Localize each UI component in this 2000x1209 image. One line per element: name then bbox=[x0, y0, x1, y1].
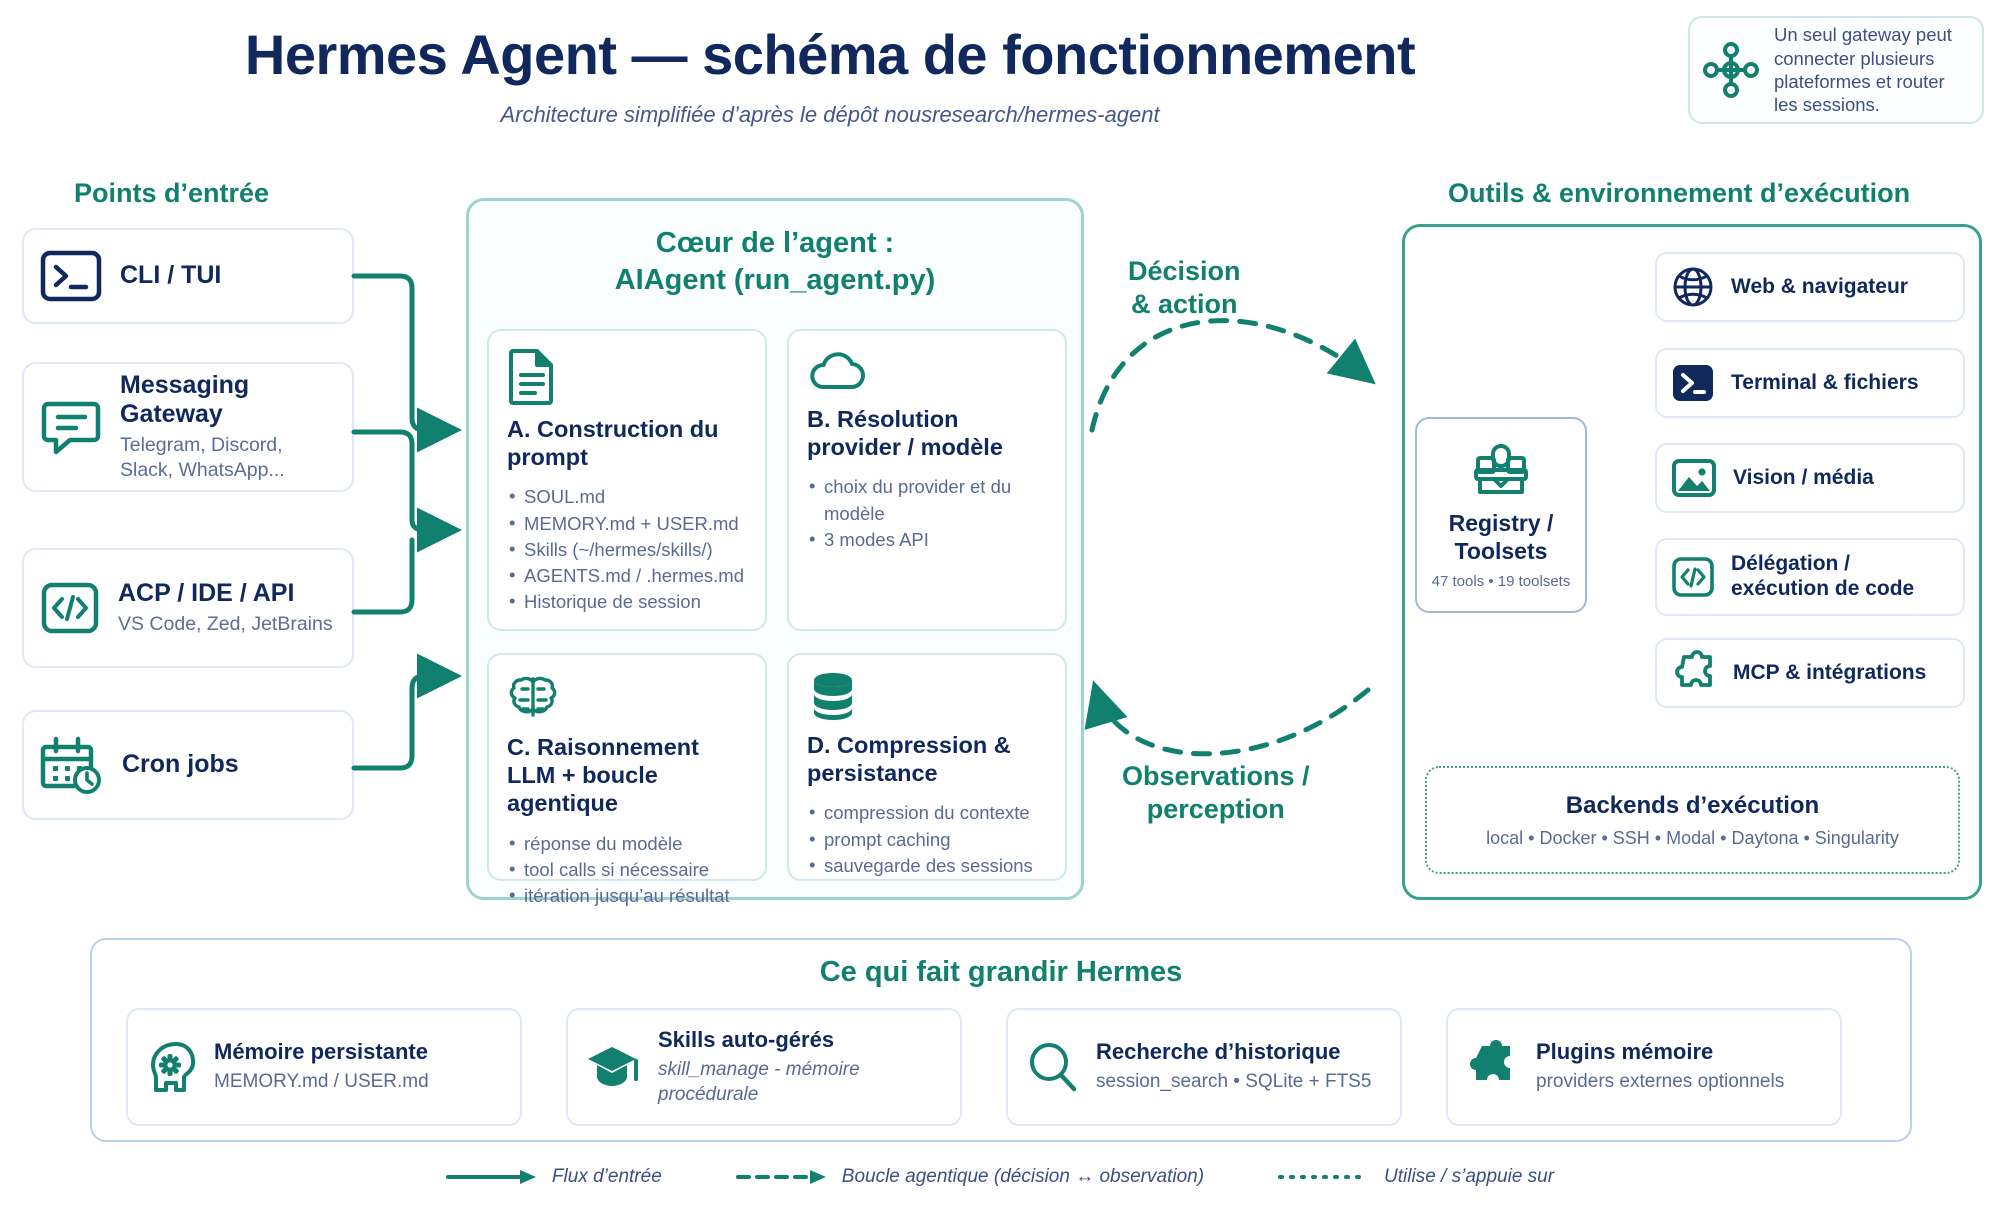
legend-label: Utilise / s’appuie sur bbox=[1384, 1166, 1554, 1188]
registry-title-line1: Registry / bbox=[1449, 510, 1554, 537]
core-card-heading: C. Raisonnement LLM + boucle agentique bbox=[507, 733, 749, 818]
core-card-list: compression du contexte prompt caching s… bbox=[807, 800, 1049, 879]
core-card-compression-persistance[interactable]: D. Compression & persistance compression… bbox=[787, 653, 1067, 881]
loop-label-decision: Décision & action bbox=[1128, 255, 1241, 321]
document-icon bbox=[507, 347, 749, 405]
page-subtitle: Architecture simplifiée d’après le dépôt… bbox=[0, 102, 1660, 128]
list-item: Historique de session bbox=[507, 589, 749, 615]
globe-icon bbox=[1671, 265, 1715, 309]
terminal-icon bbox=[40, 250, 102, 302]
loop-bottom-line1: Observations / bbox=[1122, 760, 1310, 793]
list-item: MEMORY.md + USER.md bbox=[507, 511, 749, 537]
list-item: itération jusqu’au résultat bbox=[507, 883, 749, 909]
growth-card-recherche-historique[interactable]: Recherche d’historique session_search • … bbox=[1006, 1008, 1402, 1126]
tool-card-mcp-integrations[interactable]: MCP & intégrations bbox=[1655, 638, 1965, 708]
entry-card-acp-ide-api[interactable]: ACP / IDE / API VS Code, Zed, JetBrains bbox=[22, 548, 354, 668]
tool-card-label: Délégation / exécution de code bbox=[1731, 552, 1949, 602]
agent-core-panel: Cœur de l’agent : AIAgent (run_agent.py)… bbox=[466, 198, 1084, 900]
growth-card-title: Recherche d’historique bbox=[1096, 1039, 1371, 1065]
head-gear-icon bbox=[146, 1040, 198, 1094]
code-brackets-icon bbox=[40, 579, 100, 637]
growth-panel-title: Ce qui fait grandir Hermes bbox=[92, 956, 1910, 989]
list-item: 3 modes API bbox=[807, 527, 1049, 553]
tool-card-terminal-fichiers[interactable]: Terminal & fichiers bbox=[1655, 348, 1965, 418]
core-card-construction-prompt[interactable]: A. Construction du prompt SOUL.md MEMORY… bbox=[487, 329, 767, 631]
growth-card-skills-auto-geres[interactable]: Skills auto-gérés skill_manage - mémoire… bbox=[566, 1008, 962, 1126]
gateway-note-badge: Un seul gateway peut connecter plusieurs… bbox=[1688, 16, 1984, 124]
page-title: Hermes Agent — schéma de fonctionnement bbox=[0, 22, 1660, 87]
tool-card-label: MCP & intégrations bbox=[1733, 661, 1926, 686]
backends-title: Backends d’exécution bbox=[1566, 792, 1819, 820]
registry-stack-icon bbox=[1470, 440, 1532, 500]
list-item: choix du provider et du modèle bbox=[807, 474, 1049, 527]
tool-card-label: Terminal & fichiers bbox=[1731, 371, 1919, 396]
growth-card-sub: session_search • SQLite + FTS5 bbox=[1096, 1070, 1371, 1095]
entry-card-title: Messaging Gateway bbox=[120, 371, 336, 430]
dashed-arrow-icon bbox=[736, 1168, 828, 1186]
list-item: SOUL.md bbox=[507, 484, 749, 510]
tool-card-web-navigateur[interactable]: Web & navigateur bbox=[1655, 252, 1965, 322]
core-card-heading: D. Compression & persistance bbox=[807, 731, 1049, 787]
growth-card-sub: providers externes optionnels bbox=[1536, 1070, 1784, 1095]
entry-card-title: CLI / TUI bbox=[120, 261, 221, 291]
registry-counts: 47 tools • 19 toolsets bbox=[1432, 573, 1571, 590]
core-card-list: SOUL.md MEMORY.md + USER.md Skills (~/he… bbox=[507, 484, 749, 615]
registry-title: Registry / Toolsets bbox=[1449, 510, 1554, 564]
magnifier-icon bbox=[1026, 1040, 1080, 1094]
growth-card-sub: MEMORY.md / USER.md bbox=[214, 1070, 429, 1095]
legend: Flux d’entrée Boucle agentique (décision… bbox=[0, 1155, 2000, 1199]
dotted-line-icon bbox=[1278, 1168, 1370, 1186]
growth-card-memoire-persistante[interactable]: Mémoire persistante MEMORY.md / USER.md bbox=[126, 1008, 522, 1126]
loop-bottom-line2: perception bbox=[1122, 793, 1310, 826]
entry-card-sub: Telegram, Discord, Slack, WhatsApp... bbox=[120, 433, 336, 484]
cloud-icon bbox=[807, 347, 1049, 395]
legend-item-boucle-agentique: Boucle agentique (décision ↔ observation… bbox=[736, 1166, 1204, 1188]
growth-panel: Ce qui fait grandir Hermes Mémoire per bbox=[90, 938, 1912, 1142]
database-icon bbox=[807, 671, 1049, 721]
growth-card-plugins-memoire[interactable]: Plugins mémoire providers externes optio… bbox=[1446, 1008, 1842, 1126]
core-title: Cœur de l’agent : AIAgent (run_agent.py) bbox=[469, 225, 1081, 298]
list-item: prompt caching bbox=[807, 827, 1049, 853]
entry-card-cli-tui[interactable]: CLI / TUI bbox=[22, 228, 354, 324]
badge-text: Un seul gateway peut connecter plusieurs… bbox=[1774, 23, 1968, 116]
tool-card-label: Vision / média bbox=[1733, 466, 1874, 491]
core-card-raisonnement-llm[interactable]: C. Raisonnement LLM + boucle agentique r… bbox=[487, 653, 767, 881]
core-card-heading: B. Résolution provider / modèle bbox=[807, 405, 1049, 461]
list-item: compression du contexte bbox=[807, 800, 1049, 826]
tool-card-delegation-execution-code[interactable]: Délégation / exécution de code bbox=[1655, 538, 1965, 616]
puzzle-icon bbox=[1466, 1040, 1520, 1094]
brain-icon bbox=[507, 671, 749, 723]
code-brackets-icon bbox=[1671, 555, 1715, 599]
image-icon bbox=[1671, 457, 1717, 499]
loop-top-line1: Décision bbox=[1128, 255, 1241, 288]
network-nodes-icon bbox=[1700, 39, 1762, 101]
core-title-line1: Cœur de l’agent : bbox=[469, 225, 1081, 262]
tools-env-heading: Outils & environnement d’exécution bbox=[1448, 178, 1910, 209]
legend-item-flux-entree: Flux d’entrée bbox=[446, 1166, 662, 1188]
legend-item-utilise: Utilise / s’appuie sur bbox=[1278, 1166, 1554, 1188]
list-item: Skills (~/hermes/skills/) bbox=[507, 537, 749, 563]
terminal-icon bbox=[1671, 361, 1715, 405]
solid-arrow-icon bbox=[446, 1168, 538, 1186]
growth-card-title: Mémoire persistante bbox=[214, 1039, 429, 1065]
puzzle-icon bbox=[1671, 651, 1717, 695]
growth-card-title: Skills auto-gérés bbox=[658, 1027, 942, 1053]
entry-card-messaging-gateway[interactable]: Messaging Gateway Telegram, Discord, Sla… bbox=[22, 362, 354, 492]
loop-top-line2: & action bbox=[1128, 288, 1241, 321]
entry-points-heading: Points d’entrée bbox=[74, 178, 269, 209]
entry-card-sub: VS Code, Zed, JetBrains bbox=[118, 612, 333, 637]
list-item: sauvegarde des sessions bbox=[807, 853, 1049, 879]
list-item: tool calls si nécessaire bbox=[507, 857, 749, 883]
core-title-line2: AIAgent (run_agent.py) bbox=[469, 262, 1081, 299]
calendar-clock-icon bbox=[40, 735, 104, 795]
core-card-resolution-provider[interactable]: B. Résolution provider / modèle choix du… bbox=[787, 329, 1067, 631]
backends-list: local • Docker • SSH • Modal • Daytona •… bbox=[1486, 828, 1899, 849]
list-item: AGENTS.md / .hermes.md bbox=[507, 563, 749, 589]
legend-label: Boucle agentique (décision ↔ observation… bbox=[842, 1166, 1204, 1188]
core-card-list: réponse du modèle tool calls si nécessai… bbox=[507, 831, 749, 910]
tool-card-label: Web & navigateur bbox=[1731, 275, 1908, 300]
growth-card-sub: skill_manage - mémoire procédurale bbox=[658, 1058, 942, 1107]
entry-card-title: Cron jobs bbox=[122, 750, 239, 780]
chat-bubble-icon bbox=[40, 398, 102, 456]
registry-toolsets-card[interactable]: Registry / Toolsets 47 tools • 19 toolse… bbox=[1415, 417, 1587, 613]
core-card-heading: A. Construction du prompt bbox=[507, 415, 749, 471]
loop-label-observations: Observations / perception bbox=[1122, 760, 1310, 826]
backends-execution-box: Backends d’exécution local • Docker • SS… bbox=[1425, 766, 1960, 874]
entry-card-cron-jobs[interactable]: Cron jobs bbox=[22, 710, 354, 820]
registry-title-line2: Toolsets bbox=[1449, 538, 1554, 565]
legend-label: Flux d’entrée bbox=[552, 1166, 662, 1188]
growth-card-title: Plugins mémoire bbox=[1536, 1039, 1784, 1065]
tool-card-vision-media[interactable]: Vision / média bbox=[1655, 443, 1965, 513]
graduation-cap-icon bbox=[586, 1041, 642, 1093]
list-item: réponse du modèle bbox=[507, 831, 749, 857]
entry-card-title: ACP / IDE / API bbox=[118, 579, 333, 609]
core-card-list: choix du provider et du modèle 3 modes A… bbox=[807, 474, 1049, 553]
